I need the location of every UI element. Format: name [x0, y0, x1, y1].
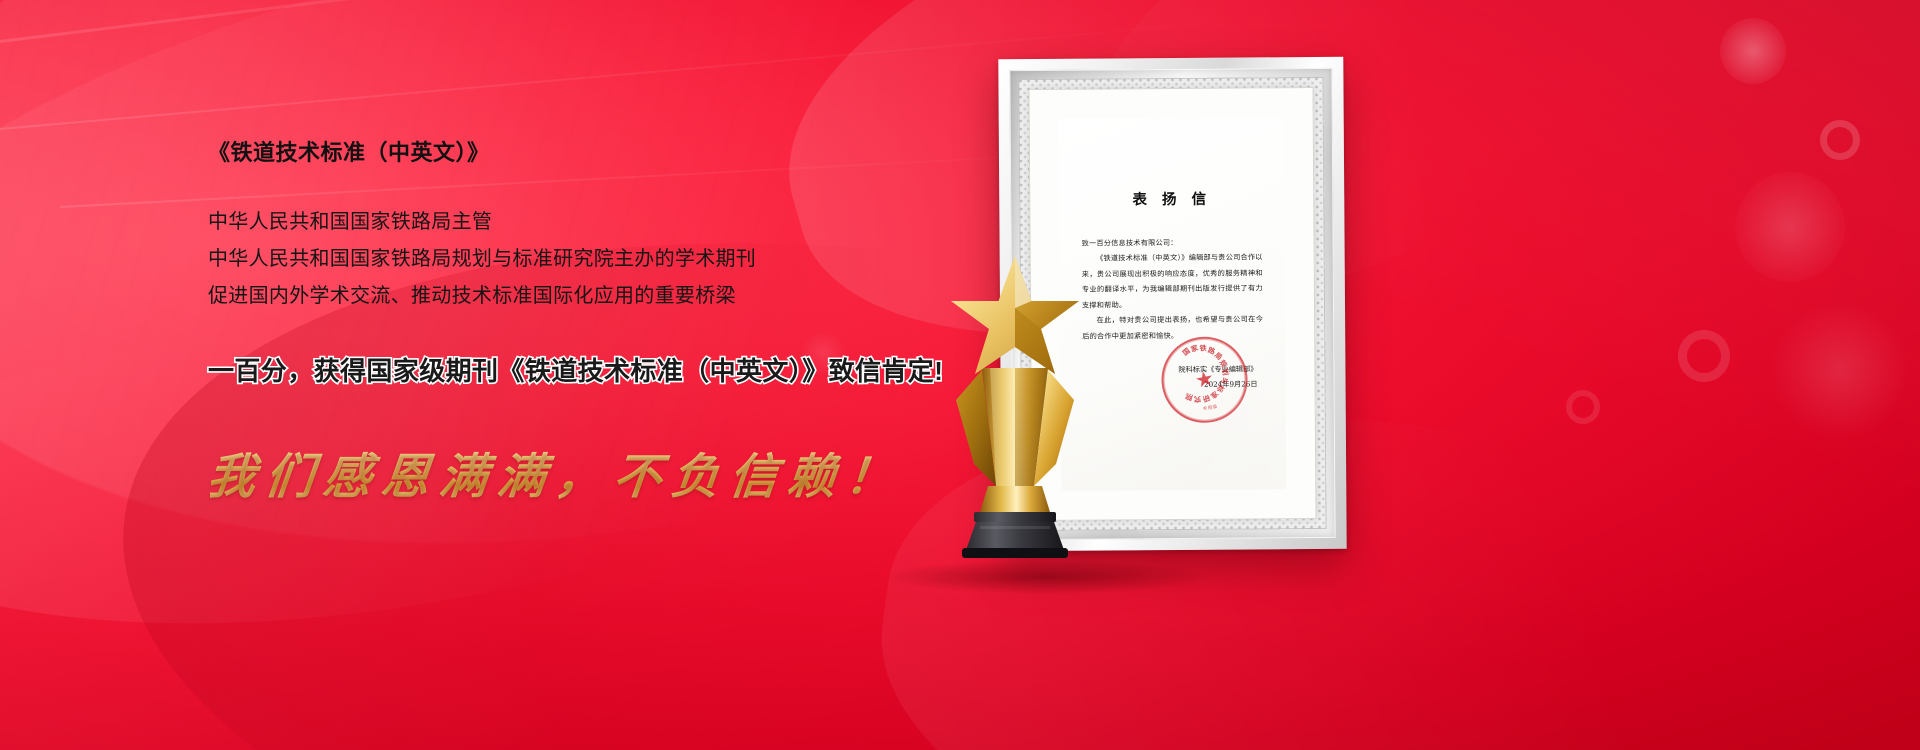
certificate-signature: 院科标实《专业编辑部》	[1082, 363, 1257, 379]
certificate-date: 2024年9月26日	[1083, 377, 1258, 393]
bullet-list: 中华人民共和国国家铁路局主管 中华人民共和国国家铁路局规划与标准研究院主办的学术…	[208, 204, 988, 315]
seal-ring-char: 家	[1189, 342, 1200, 358]
certificate-paragraph-1: 《铁道技术标准（中英文）》编辑部与贵公司合作以来，贵公司展现出积极的响应态度，优…	[1082, 250, 1263, 313]
bokeh-ring-1	[1820, 120, 1860, 160]
calligraphy-slogan: 我们感恩满满，不负信赖！	[204, 437, 991, 507]
background-ribbon-1	[0, 0, 1042, 43]
bokeh-circle-3	[1770, 300, 1910, 440]
bokeh-circle-1	[1720, 18, 1786, 84]
seal-bottom-text: 专用章	[1202, 403, 1219, 415]
seal-ring-char: 研	[1200, 391, 1212, 407]
headline: 一百分，获得国家级期刊《铁道技术标准（中英文）》致信肯定!	[208, 355, 988, 389]
journal-title: 《铁道技术标准（中英文）》	[208, 140, 988, 166]
bullet-item-3: 促进国内外学术交流、推动技术标准国际化应用的重要桥梁	[208, 278, 988, 315]
bullet-item-2: 中华人民共和国国家铁路局规划与标准研究院主办的学术期刊	[208, 241, 988, 278]
copy-block: 《铁道技术标准（中英文）》 中华人民共和国国家铁路局主管 中华人民共和国国家铁路…	[208, 140, 988, 507]
seal-ring-char: 铁	[1200, 342, 1207, 356]
bokeh-ring-2	[1678, 330, 1730, 382]
bullet-item-1: 中华人民共和国国家铁路局主管	[208, 204, 988, 241]
promo-banner: 《铁道技术标准（中英文）》 中华人民共和国国家铁路局主管 中华人民共和国国家铁路…	[0, 0, 1920, 750]
certificate-signature-block: 国家铁路局规划与标准研究院 ★ 专用章 院科标实《专业编辑部》 2024年9月2…	[1082, 363, 1263, 393]
seal-ring-char: 国	[1179, 345, 1193, 360]
bokeh-circle-2	[1735, 172, 1845, 282]
gold-star-trophy	[930, 250, 1100, 560]
seal-ring-char: 路	[1206, 344, 1217, 360]
trophy-svg	[930, 250, 1100, 560]
certificate-salutation: 致一百分信息技术有限公司：	[1082, 234, 1263, 251]
certificate-title: 表 扬 信	[1081, 187, 1262, 209]
bokeh-ring-3	[1566, 390, 1600, 424]
trophy-floor-shadow	[880, 560, 1210, 594]
certificate-paragraph-2: 在此，特对贵公司提出表扬，也希望与贵公司在今后的合作中更加紧密和愉快。	[1082, 312, 1263, 344]
certificate-body: 致一百分信息技术有限公司： 《铁道技术标准（中英文）》编辑部与贵公司合作以来，贵…	[1082, 234, 1264, 344]
seal-ring-char: 究	[1194, 392, 1202, 406]
